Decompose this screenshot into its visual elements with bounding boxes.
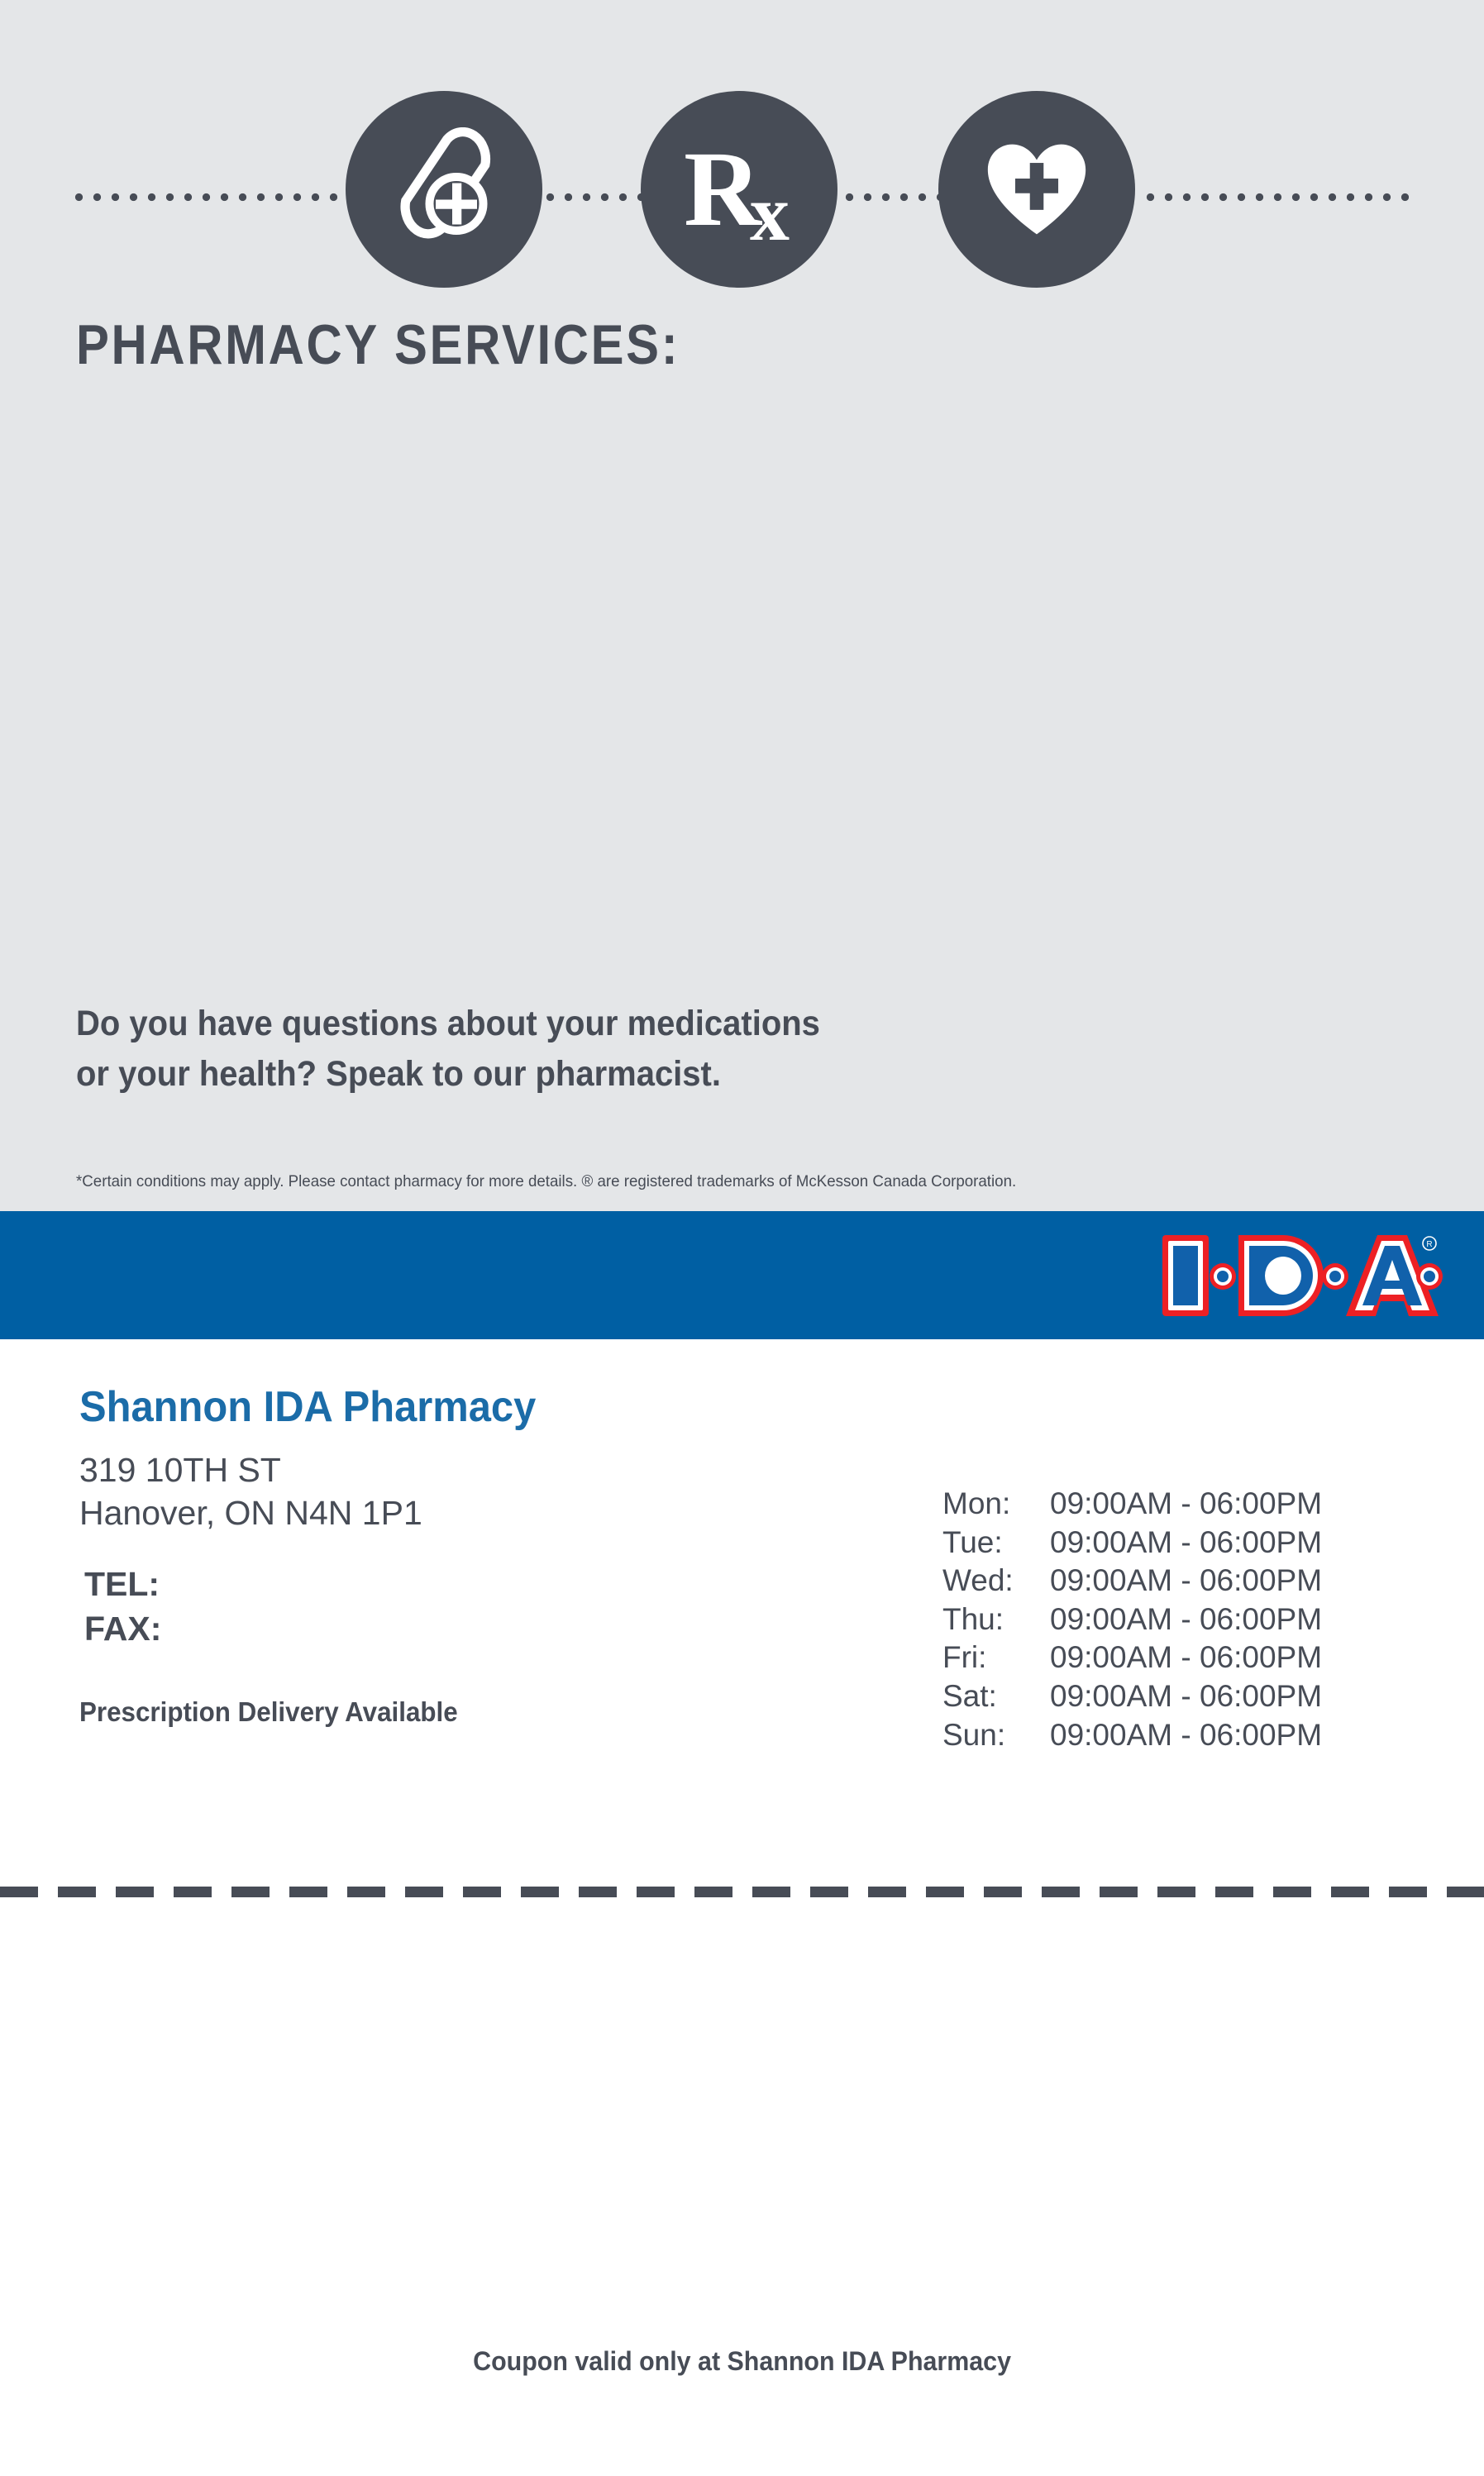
hours-day-label: Wed: bbox=[942, 1562, 1050, 1601]
hours-row: Wed: 09:00AM - 06:00PM bbox=[942, 1562, 1322, 1601]
pill-capsule-plus-icon bbox=[346, 91, 542, 288]
coupon-cut-line bbox=[0, 1887, 1484, 1897]
ida-logo: R bbox=[1159, 1225, 1444, 1326]
store-name: Shannon IDA Pharmacy bbox=[79, 1382, 857, 1433]
hours-time-value: 09:00AM - 06:00PM bbox=[1050, 1485, 1322, 1524]
store-address-line-2: Hanover, ON N4N 1P1 bbox=[79, 1492, 906, 1535]
dotted-divider-right bbox=[1146, 193, 1409, 202]
hours-time-value: 09:00AM - 06:00PM bbox=[1050, 1639, 1322, 1677]
hours-time-value: 09:00AM - 06:00PM bbox=[1050, 1677, 1322, 1716]
store-tel-label: TEL: bbox=[84, 1562, 906, 1606]
hours-row: Fri: 09:00AM - 06:00PM bbox=[942, 1639, 1322, 1677]
page-title: PHARMACY SERVICES: bbox=[76, 312, 680, 377]
hours-row: Sun: 09:00AM - 06:00PM bbox=[942, 1716, 1322, 1755]
promo-question: Do you have questions about your medicat… bbox=[76, 999, 1152, 1100]
store-info-block: Shannon IDA Pharmacy 319 10TH ST Hanover… bbox=[79, 1382, 906, 1728]
hours-row: Sat: 09:00AM - 06:00PM bbox=[942, 1677, 1322, 1716]
heart-plus-icon bbox=[938, 91, 1135, 288]
hours-time-value: 09:00AM - 06:00PM bbox=[1050, 1524, 1322, 1562]
hours-row: Mon: 09:00AM - 06:00PM bbox=[942, 1485, 1322, 1524]
dotted-divider-mid-left bbox=[546, 193, 653, 202]
rx-prescription-icon: Rx bbox=[641, 91, 837, 288]
rx-glyph-text: Rx bbox=[684, 136, 794, 243]
store-fax-label: FAX: bbox=[84, 1606, 906, 1651]
hours-day-label: Fri: bbox=[942, 1639, 1050, 1677]
pharmacy-flyer-page: Rx PHARMACY SERVICES: Do you have questi… bbox=[0, 0, 1484, 2476]
promo-question-line-2: or your health? Speak to our pharmacist. bbox=[76, 1049, 1152, 1100]
delivery-note: Prescription Delivery Available bbox=[79, 1696, 865, 1728]
hours-day-label: Sat: bbox=[942, 1677, 1050, 1716]
hours-time-value: 09:00AM - 06:00PM bbox=[1050, 1562, 1322, 1601]
promo-question-line-1: Do you have questions about your medicat… bbox=[76, 999, 1152, 1049]
hours-day-label: Mon: bbox=[942, 1485, 1050, 1524]
hours-row: Tue: 09:00AM - 06:00PM bbox=[942, 1524, 1322, 1562]
hours-day-label: Thu: bbox=[942, 1601, 1050, 1639]
hours-time-value: 09:00AM - 06:00PM bbox=[1050, 1601, 1322, 1639]
hours-day-label: Sun: bbox=[942, 1716, 1050, 1755]
legal-disclaimer: *Certain conditions may apply. Please co… bbox=[76, 1172, 1346, 1191]
store-address-line-1: 319 10TH ST bbox=[79, 1449, 906, 1492]
store-contact: TEL: FAX: bbox=[79, 1562, 906, 1651]
coupon-validity-text: Coupon valid only at Shannon IDA Pharmac… bbox=[473, 2346, 1011, 2377]
hours-day-label: Tue: bbox=[942, 1524, 1050, 1562]
hours-time-value: 09:00AM - 06:00PM bbox=[1050, 1716, 1322, 1755]
dotted-divider-left bbox=[74, 193, 337, 202]
hours-row: Thu: 09:00AM - 06:00PM bbox=[942, 1601, 1322, 1639]
dotted-divider-mid-right bbox=[845, 193, 952, 202]
icon-strip: Rx bbox=[0, 45, 1484, 252]
store-address: 319 10TH ST Hanover, ON N4N 1P1 bbox=[79, 1449, 906, 1534]
store-hours: Mon: 09:00AM - 06:00PM Tue: 09:00AM - 06… bbox=[942, 1485, 1322, 1754]
svg-text:R: R bbox=[1426, 1240, 1432, 1249]
coupon-validity-note: Coupon valid only at Shannon IDA Pharmac… bbox=[0, 2346, 1484, 2377]
